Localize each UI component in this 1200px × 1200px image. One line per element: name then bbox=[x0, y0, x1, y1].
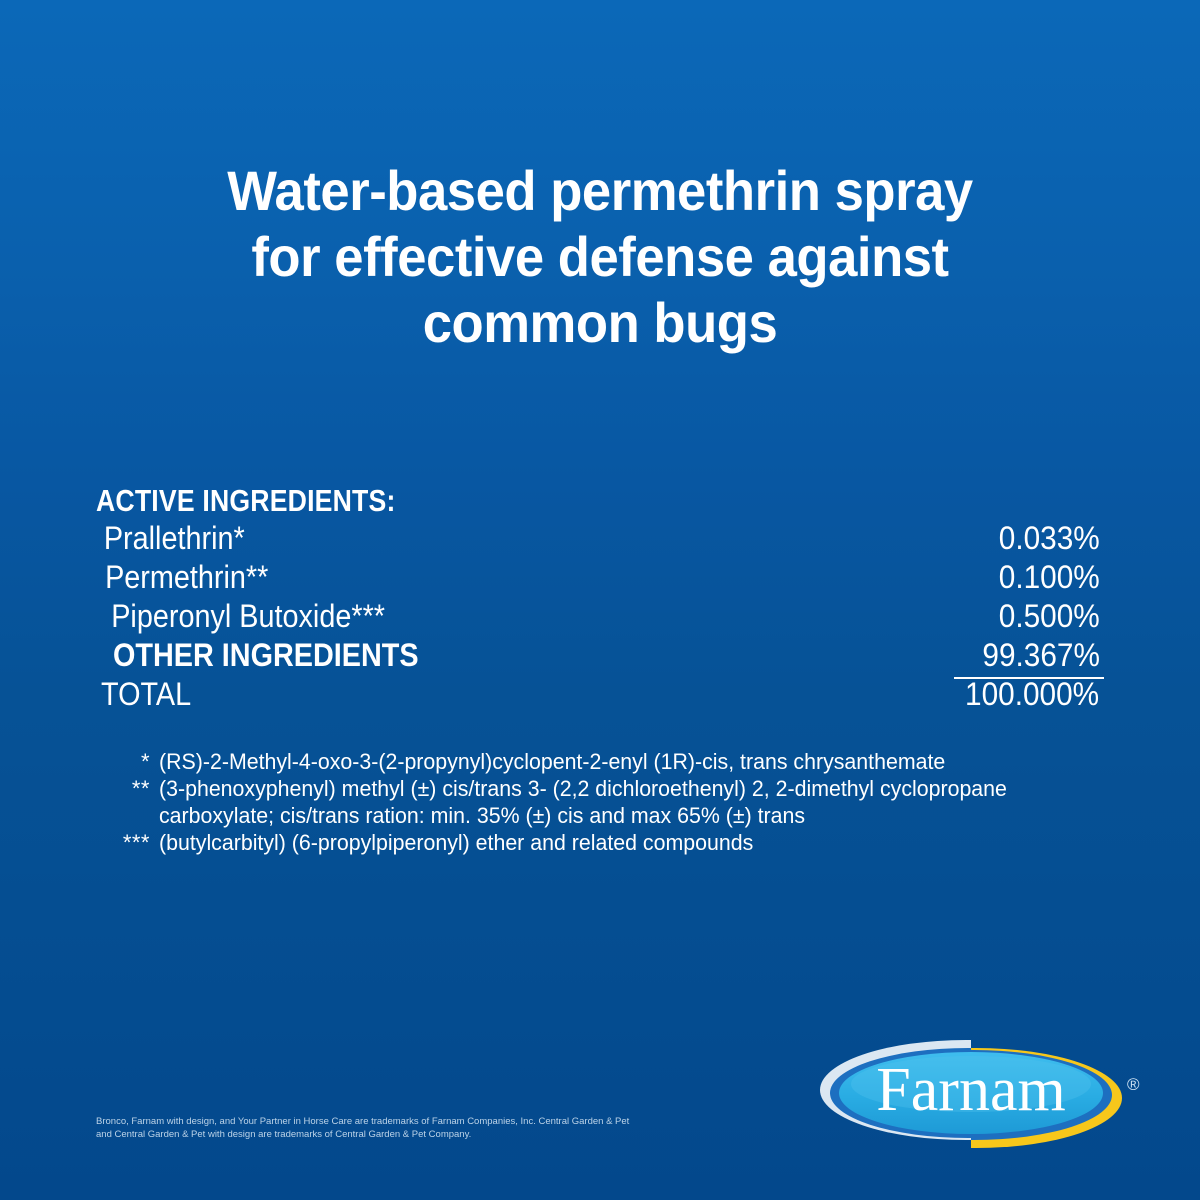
registered-trademark-icon: ® bbox=[1127, 1076, 1140, 1093]
ingredient-value: 99.367% bbox=[982, 636, 1099, 675]
ingredient-value: 0.500% bbox=[999, 597, 1100, 636]
ingredient-name: OTHER INGREDIENTS bbox=[113, 636, 419, 675]
dot-leader bbox=[198, 704, 958, 705]
footnote-marker: ** bbox=[100, 775, 159, 802]
table-row: Piperonyl Butoxide*** 0.500% bbox=[96, 597, 1104, 636]
headline-line-3: common bugs bbox=[130, 290, 1070, 356]
ingredient-value: 0.033% bbox=[999, 519, 1100, 558]
dot-leader bbox=[402, 626, 993, 627]
footnote: * (RS)-2-Methyl-4-oxo-3-(2-propynyl)cycl… bbox=[100, 748, 1110, 775]
footnote-text: (3-phenoxyphenyl) methyl (±) cis/trans 3… bbox=[159, 775, 1081, 829]
page-title: Water-based permethrin spray for effecti… bbox=[130, 158, 1070, 356]
table-row: Prallethrin* 0.033% bbox=[96, 519, 1104, 558]
ingredient-name: TOTAL bbox=[101, 675, 191, 714]
dot-leader bbox=[279, 587, 993, 588]
footnote-marker: *** bbox=[100, 829, 159, 856]
ingredient-name: Prallethrin* bbox=[104, 519, 245, 558]
table-row: TOTAL 100.000% bbox=[96, 675, 1104, 714]
farnam-logo: Farnam bbox=[816, 1034, 1126, 1154]
footnote-text: (butylcarbityl) (6-propylpiperonyl) ethe… bbox=[159, 829, 1081, 856]
ingredient-value: 0.100% bbox=[999, 558, 1100, 597]
active-ingredients-heading: ACTIVE INGREDIENTS: bbox=[96, 483, 1102, 519]
footnote-text: (RS)-2-Methyl-4-oxo-3-(2-propynyl)cyclop… bbox=[159, 748, 1081, 775]
footnotes: * (RS)-2-Methyl-4-oxo-3-(2-propynyl)cycl… bbox=[100, 748, 1110, 856]
footnote-marker: * bbox=[100, 748, 159, 775]
legal-fine-print: Bronco, Farnam with design, and Your Par… bbox=[96, 1115, 736, 1141]
dot-leader bbox=[438, 665, 976, 666]
footnote-text-line-2: carboxylate; cis/trans ration: min. 35% … bbox=[159, 802, 1081, 829]
product-info-panel: Water-based permethrin spray for effecti… bbox=[0, 0, 1200, 1200]
ingredients-table: ACTIVE INGREDIENTS: Prallethrin* 0.033% … bbox=[96, 483, 1104, 714]
logo-wordmark: Farnam bbox=[876, 1056, 1065, 1124]
headline-line-2: for effective defense against bbox=[130, 224, 1070, 290]
headline-line-1: Water-based permethrin spray bbox=[130, 158, 1070, 224]
fine-print-line-1: Bronco, Farnam with design, and Your Par… bbox=[96, 1115, 736, 1128]
ingredient-name: Permethrin** bbox=[105, 558, 268, 597]
footnote: *** (butylcarbityl) (6-propylpiperonyl) … bbox=[100, 829, 1110, 856]
dot-leader bbox=[255, 548, 994, 549]
fine-print-line-2: and Central Garden & Pet with design are… bbox=[96, 1128, 736, 1141]
table-row: OTHER INGREDIENTS 99.367% bbox=[96, 636, 1104, 675]
ingredient-value: 100.000% bbox=[965, 675, 1099, 714]
table-row: Permethrin** 0.100% bbox=[96, 558, 1104, 597]
footnote-text-line-1: (3-phenoxyphenyl) methyl (±) cis/trans 3… bbox=[159, 776, 1007, 801]
ingredient-name: Piperonyl Butoxide*** bbox=[111, 597, 385, 636]
footnote: ** (3-phenoxyphenyl) methyl (±) cis/tran… bbox=[100, 775, 1110, 829]
